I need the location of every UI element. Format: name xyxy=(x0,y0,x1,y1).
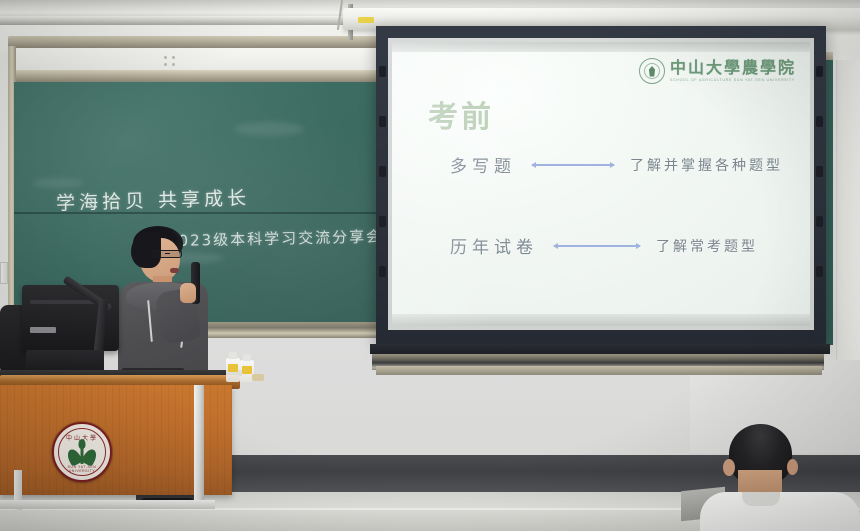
logo-chinese-text: 中山大學農學院 xyxy=(670,60,796,76)
slide-body-rows: 多写题 了解并掌握各种题型 历年试卷 了解常考题型 xyxy=(392,152,810,314)
projection-screen-surface: 中山大學農學院 SCHOOL OF AGRICULTURE SUN YAT-SE… xyxy=(388,38,814,330)
wall-switch-box[interactable] xyxy=(0,262,8,284)
podium-leg-right xyxy=(194,385,204,503)
double-headed-arrow-icon xyxy=(532,164,614,166)
row-label: 历年试卷 xyxy=(450,233,538,258)
attendee-ear-right xyxy=(787,459,798,475)
wall-panel-right xyxy=(836,60,860,360)
chalk-tray-right-lower xyxy=(376,366,822,375)
podium-foot-rail xyxy=(0,500,215,509)
blackboard-heading-text: 学海拾贝 共享成长 xyxy=(56,183,251,215)
slide-bottom-band xyxy=(392,314,810,326)
desk-item[interactable] xyxy=(252,374,264,381)
speaker-hand xyxy=(180,283,196,303)
classroom-photo-scene: 学海拾贝 共享成长 院2023级本科学习交流分享会 中山大學農學院 xyxy=(0,0,860,531)
crest-plant-icon xyxy=(69,441,95,465)
slide-top-band xyxy=(392,42,810,52)
emblem-leaf-icon xyxy=(646,66,657,77)
sun-yat-sen-university-crest-icon: 中山大學 SUN YAT-SEN UNIVERSITY xyxy=(52,422,112,482)
sysu-agriculture-emblem-icon: 中山大學農學院 SCHOOL OF AGRICULTURE SUN YAT-SE… xyxy=(639,58,796,84)
slide-row: 多写题 了解并掌握各种题型 xyxy=(392,152,810,177)
monitor-label xyxy=(30,327,56,333)
speaker-glasses-bridge xyxy=(165,253,170,254)
double-headed-arrow-icon xyxy=(554,245,640,247)
attendee-white-shirt xyxy=(700,492,860,531)
blackboard-top-frame xyxy=(8,36,393,48)
blackboard-white-strip xyxy=(12,48,390,72)
row-value: 了解常考题型 xyxy=(656,236,758,256)
presentation-slide: 中山大學農學院 SCHOOL OF AGRICULTURE SUN YAT-SE… xyxy=(392,42,810,326)
logo-english-text: SCHOOL OF AGRICULTURE SUN YAT-SEN UNIVER… xyxy=(670,79,796,83)
slide-title: 考前 xyxy=(428,92,494,136)
warning-label-sticker xyxy=(358,17,374,23)
attendee-collar xyxy=(742,492,780,506)
wall-seam xyxy=(836,60,837,360)
hand-sanitizer-bottle[interactable] xyxy=(226,358,240,382)
screen-bottom-bar xyxy=(370,344,830,354)
slide-row: 历年试卷 了解常考题型 xyxy=(392,233,810,258)
row-value: 了解并掌握各种题型 xyxy=(630,155,783,175)
crest-english-text: SUN YAT-SEN UNIVERSITY xyxy=(54,465,110,473)
row-label: 多写题 xyxy=(450,152,516,177)
blackboard-middle-rail xyxy=(8,70,393,82)
emblem-circle-icon xyxy=(639,58,665,84)
attendee-ear-left xyxy=(723,459,735,476)
speaker-mouth xyxy=(170,268,179,273)
